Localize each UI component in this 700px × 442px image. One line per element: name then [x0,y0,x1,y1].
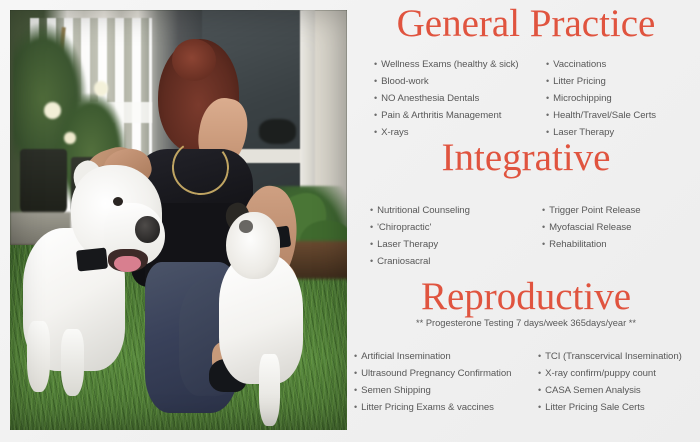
list-item-label: Health/Travel/Sale Certs [553,107,656,124]
bullet-icon: • [542,219,545,236]
list-item-label: Microchipping [553,90,612,107]
list-item: •CASA Semen Analysis [538,382,700,399]
list-item: •Nutritional Counseling [370,202,538,219]
bullet-icon: • [546,107,549,124]
list-item-label: Rehabilitation [549,236,606,253]
bullet-icon: • [374,73,377,90]
list-item-label: X-ray confirm/puppy count [545,365,656,382]
list-item: •Trigger Point Release [542,202,700,219]
bullet-icon: • [354,399,357,416]
list-item-label: 'Chiropractic' [377,219,431,236]
general-practice-right-column: •Vaccinations •Litter Pricing •Microchip… [538,56,700,141]
bullet-icon: • [538,399,541,416]
list-item-label: Wellness Exams (healthy & sick) [381,56,518,73]
list-item: •NO Anesthesia Dentals [374,90,538,107]
list-item: •Pain & Arthritis Management [374,107,538,124]
list-item-label: Myofascial Release [549,219,631,236]
bullet-icon: • [370,202,373,219]
photo-vignette [10,10,347,430]
list-item-label: Litter Pricing Sale Certs [545,399,645,416]
general-practice-left-column: •Wellness Exams (healthy & sick) •Blood-… [352,56,538,141]
list-item: •Artificial Insemination [354,348,536,365]
list-item-label: Artificial Insemination [361,348,451,365]
clinic-photo [10,10,347,430]
list-item-label: Trigger Point Release [549,202,640,219]
list-item-label: Ultrasound Pregnancy Confirmation [361,365,511,382]
list-item: •TCI (Transcervical Insemination) [538,348,700,365]
bullet-icon: • [370,253,373,270]
list-item: •Vaccinations [546,56,700,73]
bullet-icon: • [354,348,357,365]
list-item: •X-ray confirm/puppy count [538,365,700,382]
bullet-icon: • [354,382,357,399]
list-item: •'Chiropractic' [370,219,538,236]
integrative-left-column: •Nutritional Counseling •'Chiropractic' … [352,202,538,270]
list-item-label: NO Anesthesia Dentals [381,90,479,107]
list-item-label: Blood-work [381,73,429,90]
reproductive-lists: •Artificial Insemination •Ultrasound Pre… [352,348,700,416]
list-item-label: Nutritional Counseling [377,202,470,219]
list-item-label: Vaccinations [553,56,606,73]
list-item-label: Craniosacral [377,253,430,270]
reproductive-left-column: •Artificial Insemination •Ultrasound Pre… [352,348,536,416]
list-item: •Ultrasound Pregnancy Confirmation [354,365,536,382]
integrative-right-column: •Trigger Point Release •Myofascial Relea… [538,202,700,270]
list-item: •Rehabilitation [542,236,700,253]
bullet-icon: • [354,365,357,382]
list-item: •Blood-work [374,73,538,90]
list-item: •Litter Pricing Sale Certs [538,399,700,416]
list-item: •Litter Pricing Exams & vaccines [354,399,536,416]
list-item: •Health/Travel/Sale Certs [546,107,700,124]
bullet-icon: • [546,56,549,73]
list-item: •Wellness Exams (healthy & sick) [374,56,538,73]
bullet-icon: • [538,365,541,382]
list-item: •Laser Therapy [370,236,538,253]
list-item-label: CASA Semen Analysis [545,382,641,399]
list-item: •Microchipping [546,90,700,107]
general-practice-lists: •Wellness Exams (healthy & sick) •Blood-… [352,56,700,141]
bullet-icon: • [370,236,373,253]
bullet-icon: • [374,56,377,73]
bullet-icon: • [546,90,549,107]
bullet-icon: • [374,90,377,107]
section-heading-general-practice: General Practice [352,4,700,43]
list-item-label: Litter Pricing Exams & vaccines [361,399,494,416]
list-item: •Semen Shipping [354,382,536,399]
list-item: •Myofascial Release [542,219,700,236]
section-heading-reproductive: Reproductive [352,277,700,316]
bullet-icon: • [542,236,545,253]
reproductive-right-column: •TCI (Transcervical Insemination) •X-ray… [536,348,700,416]
bullet-icon: • [538,382,541,399]
list-item-label: Semen Shipping [361,382,431,399]
list-item-label: TCI (Transcervical Insemination) [545,348,682,365]
services-content: General Practice •Wellness Exams (health… [352,0,700,442]
bullet-icon: • [546,73,549,90]
list-item-label: Litter Pricing [553,73,606,90]
list-item: •Litter Pricing [546,73,700,90]
section-heading-integrative: Integrative [352,138,700,177]
bullet-icon: • [370,219,373,236]
bullet-icon: • [542,202,545,219]
integrative-lists: •Nutritional Counseling •'Chiropractic' … [352,202,700,270]
bullet-icon: • [538,348,541,365]
progesterone-testing-note: ** Progesterone Testing 7 days/week 365d… [352,318,700,328]
list-item-label: Pain & Arthritis Management [381,107,501,124]
slide-root: General Practice •Wellness Exams (health… [0,0,700,442]
bullet-icon: • [374,107,377,124]
list-item-label: Laser Therapy [377,236,438,253]
list-item: •Craniosacral [370,253,538,270]
